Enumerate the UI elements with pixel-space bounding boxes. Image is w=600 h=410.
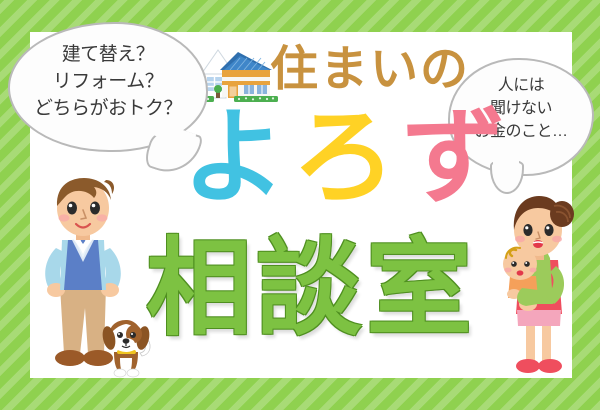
headline-char-2: ろ: [292, 100, 402, 216]
banner-root: 建て替え？ リフォーム？ どちらがおトク？ 人には 聞けない お金のこと… 住ま…: [0, 0, 600, 410]
left-bubble-line-2: リフォーム？: [10, 69, 206, 96]
woman-with-baby-illustration: [492, 192, 584, 378]
dog-illustration: [100, 312, 154, 378]
headline-main-text: よろず: [182, 106, 512, 210]
left-bubble-line-3: どちらがおトク？: [10, 96, 206, 123]
headline-sub-text: 住まいの: [270, 46, 470, 94]
right-bubble-line-1: 人には: [450, 74, 592, 97]
headline-char-1: よ: [182, 100, 292, 216]
headline-sub2-text: 相談室: [146, 236, 476, 342]
left-bubble-line-1: 建て替え？: [10, 42, 206, 69]
